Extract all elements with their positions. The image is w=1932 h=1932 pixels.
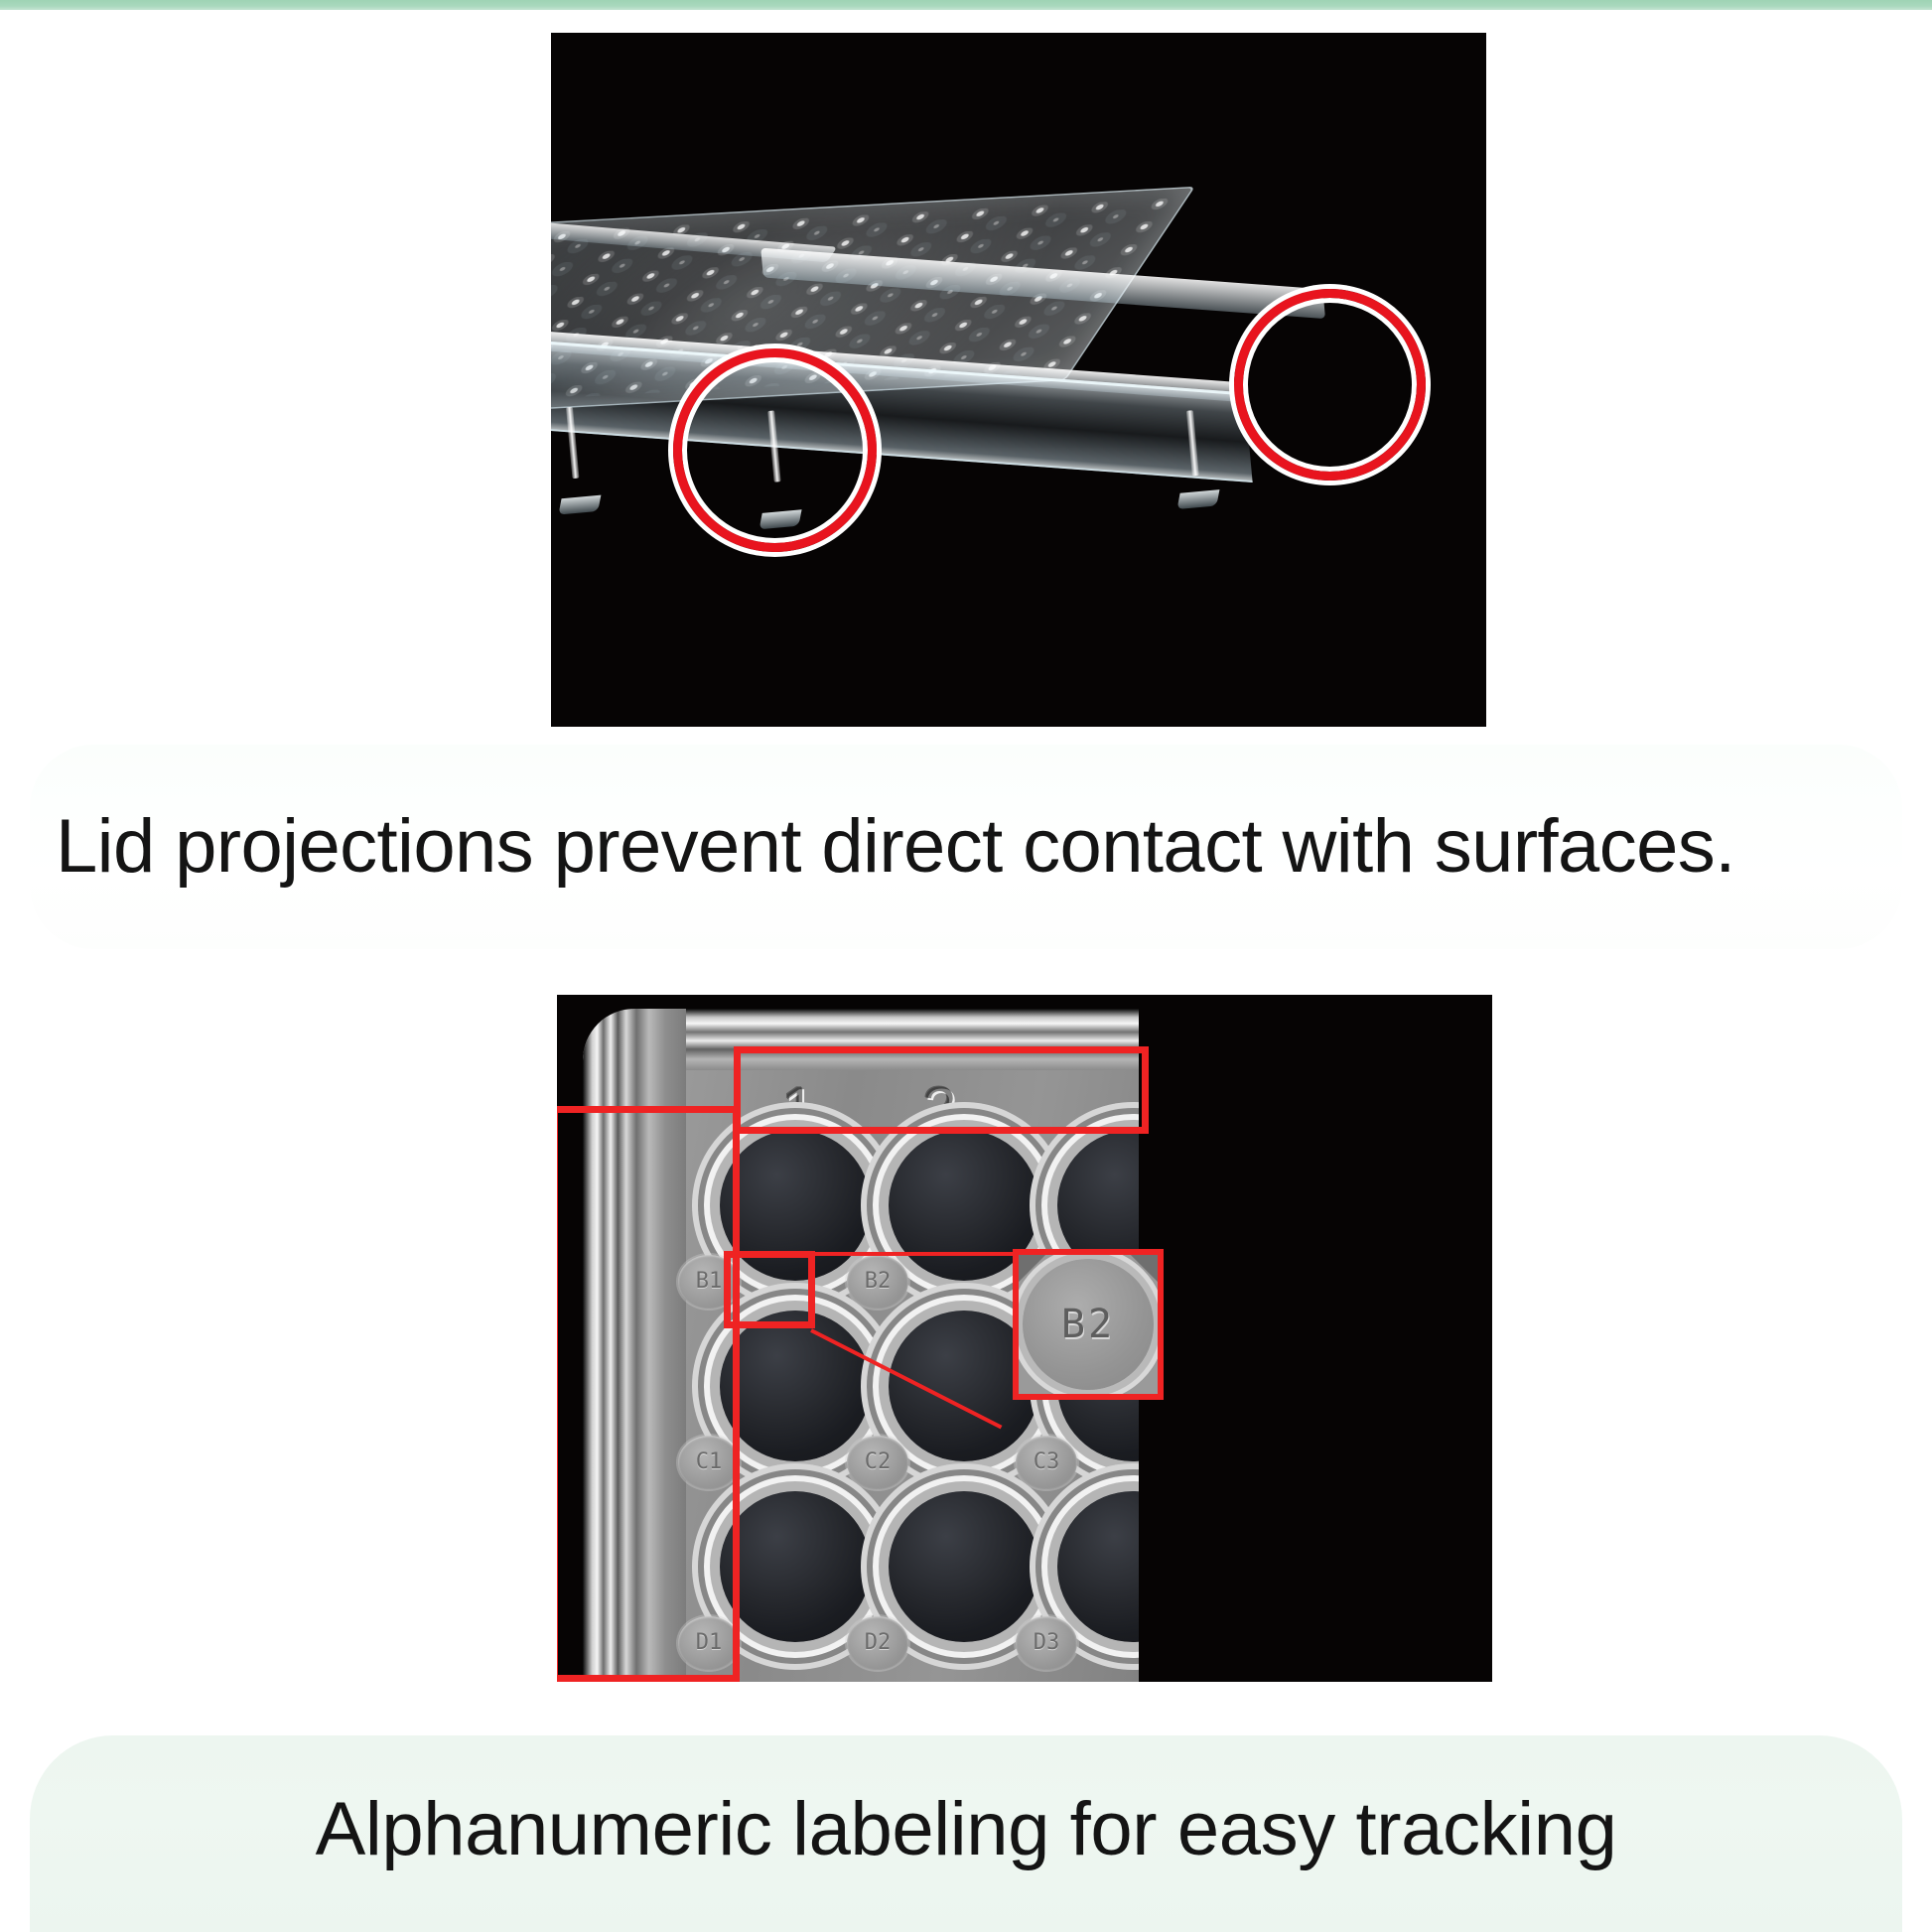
microplate-lid-side-view-photo [551,33,1486,727]
caption-card-bottom: Alphanumeric labeling for easy tracking [30,1735,1902,1932]
well-b1 [720,1311,871,1461]
well-c2 [889,1491,1039,1642]
lid-projection-highlight-right [1234,289,1426,481]
row-label-highlight [557,1106,740,1682]
magnified-well-label-inset: B2 [1013,1249,1164,1400]
caption-card-top: Lid projections prevent direct contact w… [30,745,1902,949]
caption-top-text: Lid projections prevent direct contact w… [56,809,1735,885]
page-root: Lid projections prevent direct contact w… [0,0,1932,1932]
well-pad-b2: B2 [847,1255,908,1309]
column-label-highlight [734,1046,1149,1134]
caption-bottom-text: Alphanumeric labeling for easy tracking [316,1792,1617,1867]
well-pad-d2: D2 [847,1616,908,1670]
microplate-alphanumeric-labeling-photo: 1 2 A B C B1 B2 B3 [557,995,1492,1682]
top-accent-band [0,0,1932,10]
lid-projection-highlight-left [673,348,877,552]
well-pad-c2: C2 [847,1436,908,1489]
lid-foot-left [558,495,601,515]
lid-foot-right [1177,489,1220,509]
well-pad-d3: D3 [1016,1616,1077,1670]
b2-pad-highlight [724,1251,815,1328]
well-c1 [720,1491,871,1642]
magnified-well-label-text: B2 [1023,1259,1154,1390]
well-c3 [1057,1491,1139,1642]
b2-callout-connector-top [813,1252,1017,1256]
well-pad-c3: C3 [1016,1436,1077,1489]
